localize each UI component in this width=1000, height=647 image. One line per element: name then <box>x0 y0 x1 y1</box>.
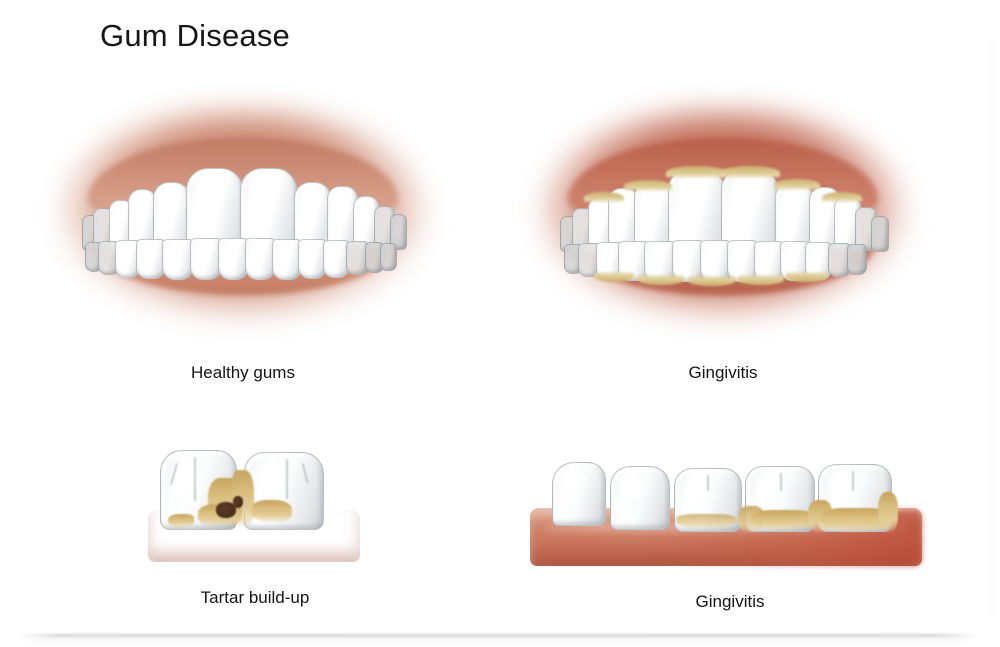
plaque-deposit-upper <box>624 180 672 192</box>
tooth-highlight <box>757 475 780 501</box>
plaque-deposit <box>676 514 736 528</box>
plaque-deposit-lower <box>738 274 784 285</box>
tartar-deposit <box>252 500 292 522</box>
plaque-deposit <box>878 492 898 532</box>
tooth-groove <box>302 463 309 483</box>
poster-edge-bottom-soft <box>30 639 966 641</box>
caption-gingivitis-closeup: Gingivitis <box>530 592 930 612</box>
healthy-mouth-illustration <box>58 108 428 323</box>
tartar-deposit <box>168 514 194 527</box>
plaque-deposit-upper <box>584 192 624 203</box>
healthy-teeth-group <box>58 108 428 323</box>
gingivitis-closeup-illustration <box>530 440 930 575</box>
tooth-groove <box>780 473 782 491</box>
tooth-closeup <box>610 466 670 530</box>
plaque-deposit-lower <box>594 271 634 282</box>
panel-gingivitis-closeup: Gingivitis <box>530 440 930 610</box>
tooth-lower <box>380 243 397 271</box>
tooth-upper <box>871 216 889 252</box>
tooth-lower <box>847 244 867 275</box>
plaque-deposit <box>752 510 814 530</box>
illustration-poster: Gum Disease <box>0 0 1000 647</box>
plaque-deposit-lower <box>786 271 828 282</box>
panel-healthy-gums: Healthy gums <box>58 108 428 328</box>
plaque-deposit-lower <box>638 274 684 285</box>
caption-healthy-gums: Healthy gums <box>58 363 428 383</box>
caption-gingivitis-mouth: Gingivitis <box>538 363 908 383</box>
tooth-groove <box>286 459 288 499</box>
tooth-highlight <box>620 474 640 499</box>
panel-tartar-build-up: Tartar build-up <box>140 440 370 610</box>
tartar-closeup-illustration <box>140 440 370 570</box>
tooth-groove <box>707 475 709 491</box>
caption-tartar-build-up: Tartar build-up <box>110 588 400 608</box>
tooth-highlight <box>686 476 708 501</box>
gingivitis-mouth-illustration <box>538 108 908 323</box>
plaque-deposit-lower <box>688 275 736 286</box>
tooth-closeup <box>552 462 606 526</box>
tooth-groove <box>852 471 854 491</box>
plaque-deposit-upper <box>666 166 726 179</box>
page-title: Gum Disease <box>100 18 290 54</box>
plaque-deposit-upper <box>720 166 780 179</box>
poster-edge-right <box>988 40 994 621</box>
poster-edge-bottom <box>18 634 978 637</box>
tooth-highlight <box>561 470 579 495</box>
plaque-deposit-upper <box>822 192 862 203</box>
tooth-highlight <box>257 462 284 492</box>
decay-spot <box>233 496 243 508</box>
tooth-groove <box>194 457 196 501</box>
gingivitis-teeth-group <box>538 108 908 323</box>
panel-gingivitis-mouth: Gingivitis <box>538 108 908 328</box>
plaque-deposit-upper <box>774 179 820 191</box>
